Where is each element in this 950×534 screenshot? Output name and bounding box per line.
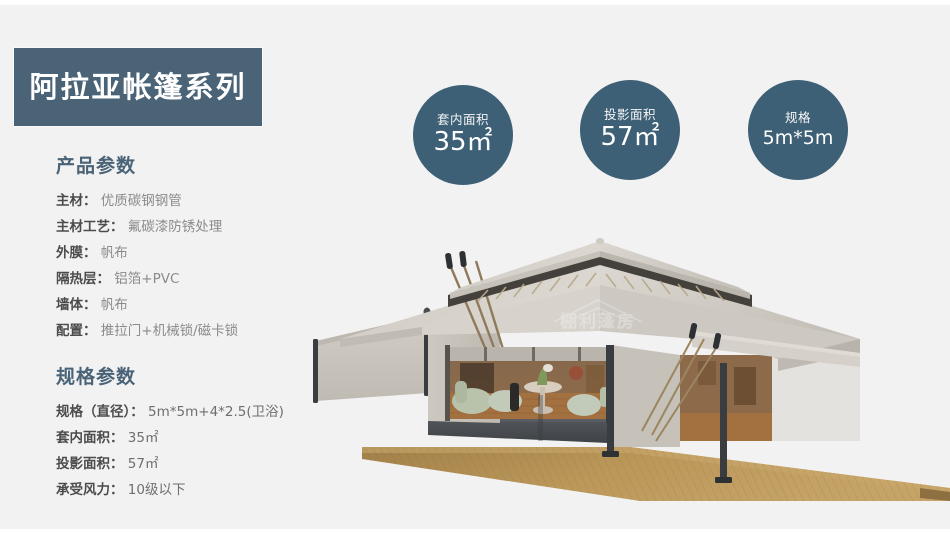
param-label: 外膜： bbox=[56, 245, 97, 261]
top-edge-strip bbox=[0, 0, 950, 5]
list-item: 主材： 优质碳钢钢管 bbox=[56, 188, 356, 214]
tent-render-svg bbox=[300, 235, 950, 530]
product-params-heading: 产品参数 bbox=[56, 155, 356, 178]
badge-value: 5m*5m bbox=[763, 129, 834, 149]
param-label: 投影面积： bbox=[56, 456, 124, 472]
param-value: 氟碳漆防锈处理 bbox=[128, 219, 223, 235]
param-label: 隔热层： bbox=[56, 271, 110, 287]
page-title: 阿拉亚帐篷系列 bbox=[29, 73, 246, 102]
badge-dimensions: 规格 5m*5m bbox=[748, 80, 848, 180]
strap-anchors-left bbox=[445, 251, 467, 270]
badge-caption: 规格 bbox=[785, 111, 811, 125]
param-label: 套内面积： bbox=[56, 430, 124, 446]
param-value: 35㎡ bbox=[128, 430, 159, 446]
param-label: 规格（直径）： bbox=[56, 404, 144, 420]
wood-deck bbox=[362, 447, 950, 501]
param-label: 配置： bbox=[56, 323, 97, 339]
badge-caption: 套内面积 bbox=[437, 113, 489, 127]
page-root: 阿拉亚帐篷系列 产品参数 主材： 优质碳钢钢管 主材工艺： 氟碳漆防锈处理 外膜… bbox=[0, 0, 950, 534]
badge-caption: 投影面积 bbox=[604, 108, 656, 122]
param-value: 帆布 bbox=[101, 297, 128, 313]
param-value: 优质碳钢钢管 bbox=[101, 193, 182, 209]
badge-value: 35㎡ bbox=[433, 129, 492, 156]
param-label: 承受风力： bbox=[56, 482, 124, 498]
title-banner: 阿拉亚帐篷系列 bbox=[14, 48, 262, 126]
param-value: 铝箔+PVC bbox=[114, 271, 179, 287]
badge-value: 57㎡ bbox=[600, 124, 659, 151]
param-label: 墙体： bbox=[56, 297, 97, 313]
param-label: 主材工艺： bbox=[56, 219, 124, 235]
param-value: 57㎡ bbox=[128, 456, 159, 472]
param-value: 5m*5m+4*2.5(卫浴) bbox=[148, 404, 284, 420]
param-label: 主材： bbox=[56, 193, 97, 209]
badge-projected-area: 投影面积 57㎡ bbox=[580, 80, 680, 180]
badge-interior-area: 套内面积 35㎡ bbox=[413, 85, 513, 185]
tent-illustration bbox=[300, 235, 950, 530]
param-value: 帆布 bbox=[101, 245, 128, 261]
param-value: 推拉门+机械锁/磁卡锁 bbox=[101, 323, 238, 339]
param-value: 10级以下 bbox=[128, 482, 186, 498]
interior-opening bbox=[445, 345, 611, 423]
